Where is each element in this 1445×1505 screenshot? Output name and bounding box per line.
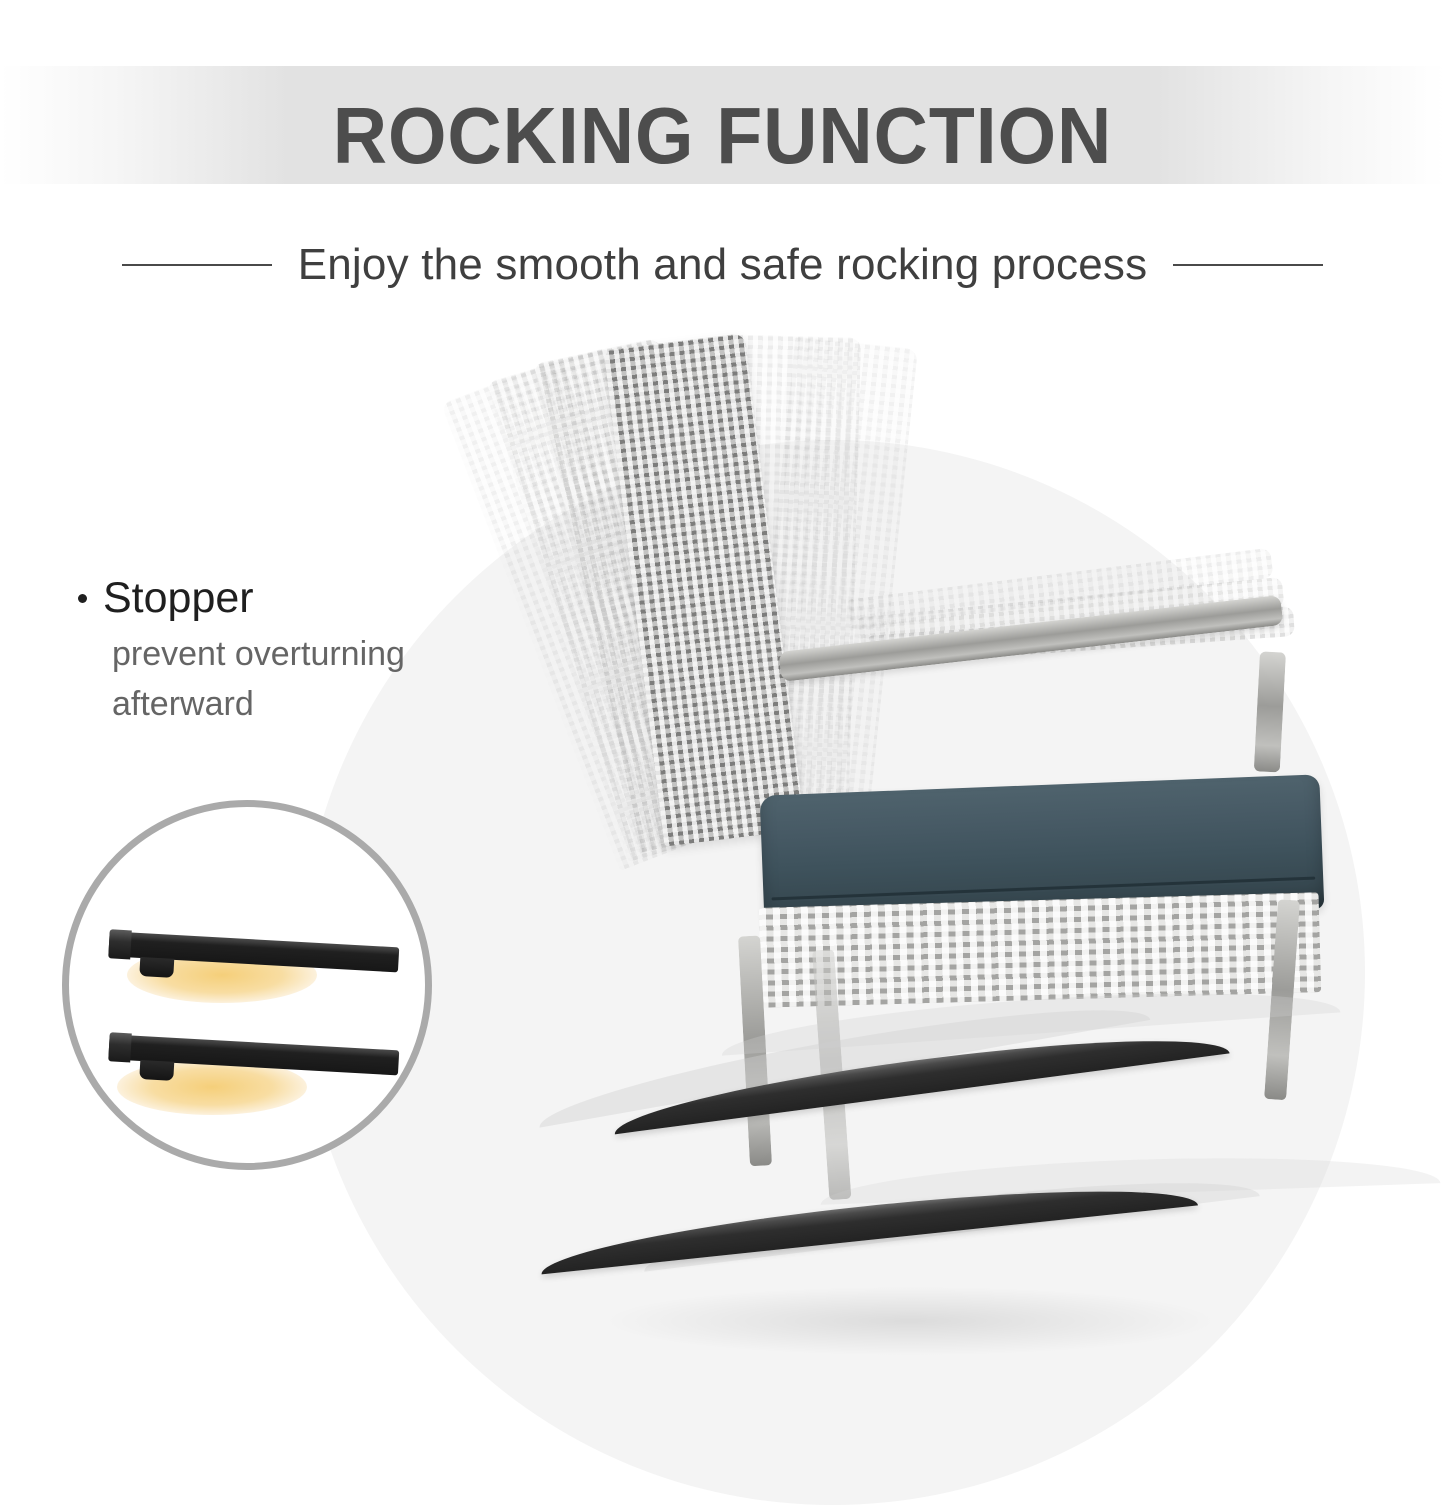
caption-title-text: Stopper <box>103 575 254 622</box>
armrest-front-post <box>1254 651 1286 772</box>
rocking-chair-illustration <box>420 300 1430 1400</box>
subtitle-row: Enjoy the smooth and safe rocking proces… <box>0 225 1445 305</box>
page-title: ROCKING FUNCTION <box>43 96 1401 176</box>
rail-end-cap <box>108 929 132 959</box>
stopper-caption: Stopper prevent overturning afterward <box>78 575 478 729</box>
caption-description: prevent overturning afterward <box>112 630 452 729</box>
rocker-rail-top <box>68 919 400 985</box>
stopper-nub-icon <box>139 957 174 978</box>
floor-shadow <box>600 1286 1220 1356</box>
stopper-detail-inset <box>62 800 432 1170</box>
caption-title-row: Stopper <box>78 575 478 622</box>
caption-description-line2: afterward <box>112 685 254 723</box>
rocker-rail-bottom <box>68 1022 400 1088</box>
page-subtitle: Enjoy the smooth and safe rocking proces… <box>298 240 1148 290</box>
subtitle-rule-right <box>1173 264 1323 266</box>
bullet-dot-icon <box>78 594 87 603</box>
seat-apron <box>759 892 1322 1008</box>
subtitle-rule-left <box>122 264 272 266</box>
stopper-nub-icon <box>139 1060 174 1081</box>
rail-end-cap <box>108 1032 132 1062</box>
caption-description-line1: prevent overturning <box>112 635 405 673</box>
